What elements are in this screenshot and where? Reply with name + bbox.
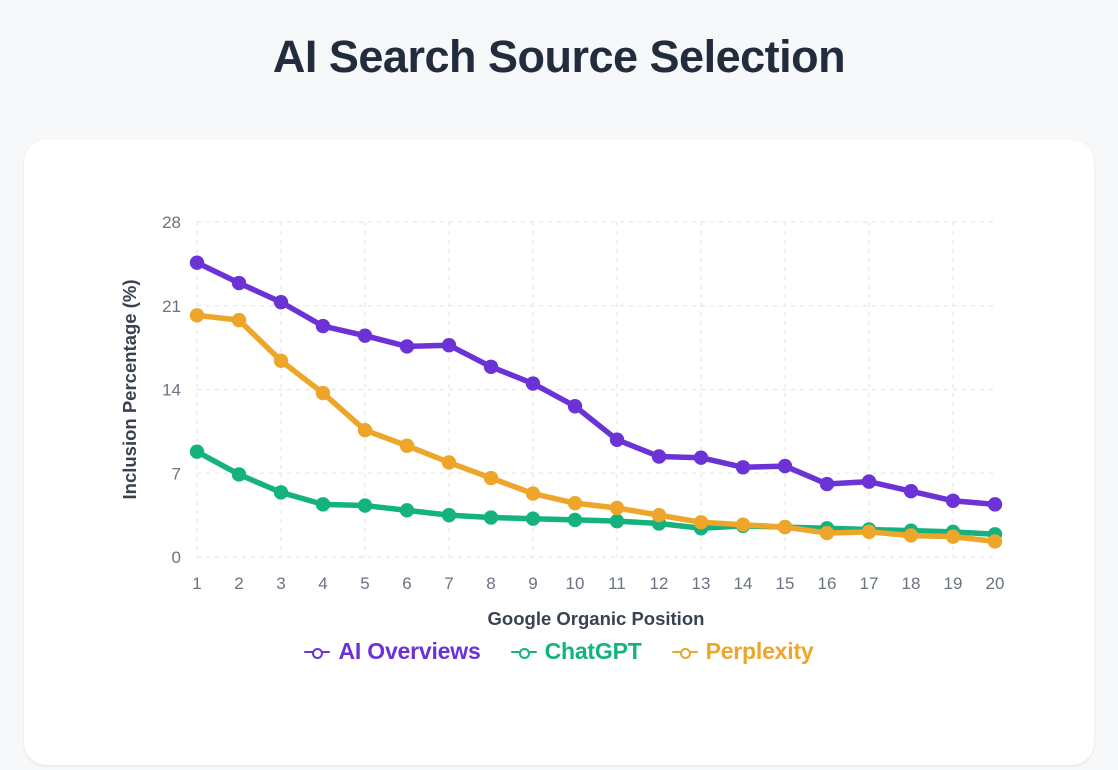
x-tick-label: 14 [734,574,753,593]
data-point[interactable] [442,338,456,352]
data-point[interactable] [484,510,498,524]
legend-item-label: Perplexity [706,638,814,665]
legend-item-perplexity[interactable]: Perplexity [672,638,814,665]
data-point[interactable] [526,486,540,500]
data-point[interactable] [568,513,582,527]
data-point[interactable] [862,474,876,488]
x-tick-label: 6 [402,574,411,593]
data-point[interactable] [442,508,456,522]
data-point[interactable] [316,497,330,511]
data-point[interactable] [946,529,960,543]
data-point[interactable] [484,471,498,485]
data-point[interactable] [694,450,708,464]
data-point[interactable] [610,433,624,447]
x-tick-label: 20 [986,574,1005,593]
x-tick-label: 4 [318,574,327,593]
chart-legend: AI OverviewsChatGPTPerplexity [24,638,1094,665]
data-point[interactable] [904,528,918,542]
data-point[interactable] [358,328,372,342]
data-point[interactable] [652,449,666,463]
data-point[interactable] [400,503,414,517]
data-point[interactable] [358,423,372,437]
data-point[interactable] [484,360,498,374]
x-tick-label: 19 [944,574,963,593]
x-tick-label: 7 [444,574,453,593]
data-point[interactable] [946,494,960,508]
x-axis-title: Google Organic Position [488,608,705,629]
x-tick-label: 3 [276,574,285,593]
data-point[interactable] [400,339,414,353]
data-point[interactable] [736,517,750,531]
data-point[interactable] [904,484,918,498]
x-tick-label: 13 [692,574,711,593]
data-point[interactable] [526,376,540,390]
y-tick-label: 7 [172,464,181,483]
legend-item-label: ChatGPT [545,638,642,665]
x-tick-label: 15 [776,574,795,593]
x-tick-label: 16 [818,574,837,593]
line-chart-svg: 071421281234567891011121314151617181920G… [24,140,1094,765]
data-point[interactable] [274,485,288,499]
data-point[interactable] [274,354,288,368]
data-point[interactable] [652,508,666,522]
x-tick-label: 17 [860,574,879,593]
data-point[interactable] [232,467,246,481]
x-tick-label: 1 [192,574,201,593]
y-axis-title: Inclusion Percentage (%) [119,280,140,500]
data-point[interactable] [190,445,204,459]
x-tick-label: 2 [234,574,243,593]
data-point[interactable] [610,514,624,528]
data-point[interactable] [778,520,792,534]
legend-item-chatgpt[interactable]: ChatGPT [511,638,642,665]
data-point[interactable] [232,276,246,290]
legend-marker-icon [304,646,330,658]
data-point[interactable] [316,386,330,400]
data-point[interactable] [820,477,834,491]
data-point[interactable] [190,308,204,322]
data-point[interactable] [736,460,750,474]
x-tick-label: 18 [902,574,921,593]
chart-page: AI Search Source Selection 0714212812345… [0,0,1118,770]
page-title: AI Search Source Selection [0,0,1118,82]
x-tick-label: 9 [528,574,537,593]
data-point[interactable] [316,319,330,333]
data-point[interactable] [232,313,246,327]
data-point[interactable] [400,439,414,453]
series-line [197,452,995,535]
data-point[interactable] [442,455,456,469]
data-point[interactable] [820,526,834,540]
data-point[interactable] [988,534,1002,548]
data-point[interactable] [274,295,288,309]
x-tick-label: 10 [566,574,585,593]
y-tick-label: 21 [162,297,181,316]
legend-marker-icon [511,646,537,658]
data-point[interactable] [190,255,204,269]
data-point[interactable] [694,515,708,529]
legend-item-ai-overviews[interactable]: AI Overviews [304,638,480,665]
legend-item-label: AI Overviews [338,638,480,665]
series-perplexity [190,308,1002,549]
y-tick-label: 28 [162,213,181,232]
data-point[interactable] [778,459,792,473]
x-tick-label: 8 [486,574,495,593]
data-point[interactable] [568,496,582,510]
data-point[interactable] [988,497,1002,511]
data-point[interactable] [526,512,540,526]
data-point[interactable] [358,498,372,512]
x-tick-label: 12 [650,574,669,593]
data-point[interactable] [568,399,582,413]
x-tick-label: 5 [360,574,369,593]
x-tick-label: 11 [608,574,626,593]
chart-plot-area: 071421281234567891011121314151617181920G… [24,140,1094,765]
legend-marker-icon [672,646,698,658]
data-point[interactable] [862,525,876,539]
data-point[interactable] [610,501,624,515]
series-chatgpt [190,445,1002,542]
chart-card: 071421281234567891011121314151617181920G… [24,140,1094,765]
series-line [197,263,995,505]
y-tick-label: 14 [162,381,181,400]
y-tick-label: 0 [172,548,181,567]
